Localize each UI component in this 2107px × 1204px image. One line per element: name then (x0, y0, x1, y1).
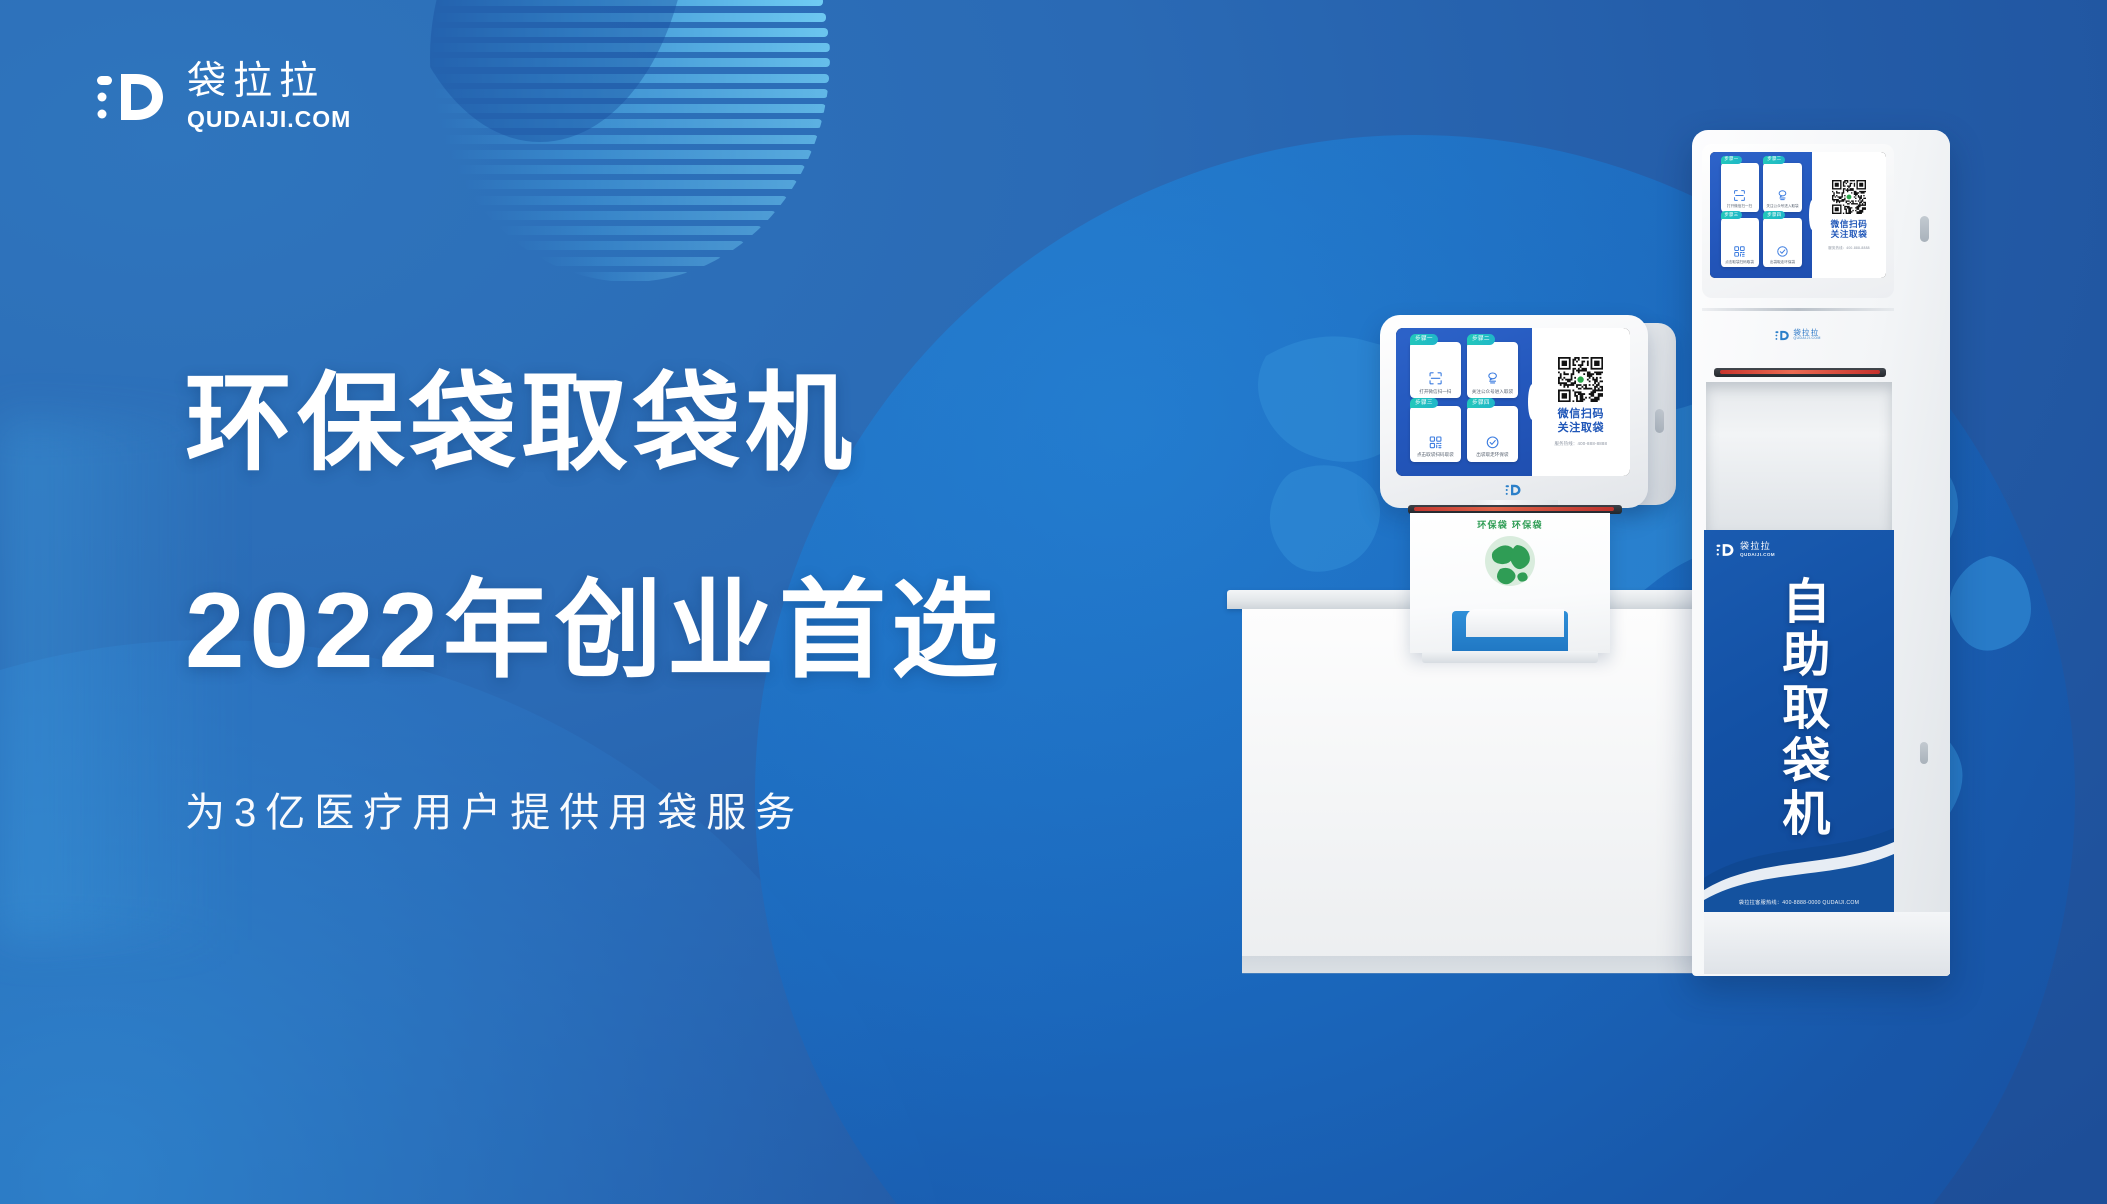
brand-logo-text: 袋拉拉 QUDAIJI.COM (187, 62, 351, 133)
step-card[interactable]: 步骤二 关注公众号进入取袋 (1763, 163, 1801, 212)
floor-kiosk-blue-panel: 袋拉拉 QUDAIJI.COM 自助取袋机 袋拉拉客服热线：400-8888-0… (1704, 530, 1894, 912)
stripe-row (431, 74, 830, 83)
step-card[interactable]: 步骤一 打开微信扫一扫 (1410, 342, 1461, 398)
step-text: 打开微信扫一扫 (1413, 389, 1458, 395)
floor-kiosk-brand-text: 袋拉拉 QUDAIJI.COM (1793, 329, 1820, 340)
qudaiji-logo-icon (95, 66, 169, 128)
counter-base-shadow (1242, 956, 1740, 974)
screen-steps-panel: 步骤一 打开微信扫一扫步骤二 关注公众号进入取袋步骤三 点击取袋扫码取袋步骤四 (1396, 328, 1532, 476)
desktop-kiosk-slot-led (1414, 507, 1614, 511)
qr-title-line-2: 关注取袋 (1831, 229, 1868, 240)
brand-logo[interactable]: 袋拉拉 QUDAIJI.COM (95, 62, 351, 133)
stripe-row (515, 241, 744, 250)
panel-brand-en: QUDAIJI.COM (1740, 553, 1775, 558)
wechat-follow-icon (1484, 371, 1501, 386)
floor-kiosk-side-button-bottom[interactable] (1920, 742, 1928, 764)
stripe-row (455, 165, 806, 174)
promo-banner: 袋拉拉 QUDAIJI.COM 环保袋取袋机 2022年创业首选 为3亿医疗用户… (0, 0, 2107, 1204)
stripe-row (430, 43, 829, 52)
floor-kiosk-slot-led (1720, 370, 1880, 374)
screen-qr-panel: 微信扫码 关注取袋 服务热线：400-888-8888 (1812, 152, 1886, 278)
desktop-kiosk-base (1422, 651, 1598, 663)
stripe-row (442, 135, 817, 144)
desktop-kiosk-basket-lip (1466, 609, 1564, 637)
step-badge: 步骤三 (1410, 398, 1438, 408)
panel-brand-text: 袋拉拉 QUDAIJI.COM (1740, 542, 1775, 557)
step-text: 点击取袋扫码取袋 (1413, 452, 1458, 458)
qudaiji-logo-icon (1716, 542, 1735, 558)
floor-kiosk-pickup-recess (1706, 382, 1892, 532)
floor-kiosk-side-button-top[interactable] (1920, 216, 1929, 242)
floor-kiosk-brand-en: QUDAIJI.COM (1793, 337, 1820, 341)
stripe-row (484, 211, 776, 220)
stripe-row (434, 13, 826, 22)
stripe-row (430, 58, 830, 67)
floor-kiosk-brand-strip: 袋拉拉 QUDAIJI.COM (1702, 318, 1894, 352)
wechat-qr-code-icon[interactable] (1832, 180, 1866, 214)
striped-globe-decoration (430, 0, 830, 282)
step-card[interactable]: 步骤一 打开微信扫一扫 (1721, 163, 1759, 212)
screen-ui: 步骤一 打开微信扫一扫步骤二 关注公众号进入取袋步骤三 点击取袋扫码取袋步骤四 (1396, 328, 1630, 476)
step-badge: 步骤二 (1763, 156, 1785, 164)
stripe-row (463, 180, 797, 189)
counter-body (1242, 609, 1740, 973)
step-text: 出袋取走环保袋 (1766, 260, 1800, 264)
wechat-follow-icon (1776, 189, 1789, 202)
desktop-kiosk: 步骤一 打开微信扫一扫步骤二 关注公众号进入取袋步骤三 点击取袋扫码取袋步骤四 (1380, 315, 1720, 615)
floor-kiosk-screen[interactable]: 步骤一 打开微信扫一扫步骤二 关注公众号进入取袋步骤三 点击取袋扫码取袋步骤四 (1710, 152, 1886, 278)
qudaiji-logo-icon (1505, 483, 1522, 497)
qr-title-line-2: 关注取袋 (1558, 422, 1604, 436)
desktop-kiosk-brand-strip (1396, 478, 1630, 502)
stripe-row (434, 104, 825, 113)
step-badge: 步骤一 (1721, 156, 1743, 164)
qr-title-line-1: 微信扫码 (1831, 219, 1868, 230)
step-text: 出袋取走环保袋 (1470, 452, 1515, 458)
step-card[interactable]: 步骤三 点击取袋扫码取袋 (1721, 218, 1759, 267)
step-badge: 步骤二 (1467, 334, 1495, 344)
step-badge: 步骤一 (1410, 334, 1438, 344)
hero-subtitle: 为3亿医疗用户提供用袋服务 (185, 780, 1003, 838)
step-text: 打开微信扫一扫 (1723, 204, 1756, 208)
eco-caption: 环保袋 环保袋 (1410, 518, 1610, 531)
step-card[interactable]: 步骤三 点击取袋扫码取袋 (1410, 406, 1461, 462)
floor-kiosk-foot (1704, 912, 1950, 974)
step-badge: 步骤四 (1467, 398, 1495, 408)
panel-brand-cn: 袋拉拉 (1740, 542, 1775, 551)
headline-line-2: 2022年创业首选 (185, 577, 1003, 684)
step-text: 关注公众号进入取袋 (1766, 204, 1800, 208)
qr-hotline: 服务热线：400-888-8888 (1555, 441, 1608, 447)
floor-kiosk-brandmark: 袋拉拉 QUDAIJI.COM (1775, 329, 1820, 342)
hero-copy: 环保袋取袋机 2022年创业首选 为3亿医疗用户提供用袋服务 (185, 370, 1003, 838)
screen-steps-panel: 步骤一 打开微信扫一扫步骤二 关注公众号进入取袋步骤三 点击取袋扫码取袋步骤四 (1710, 152, 1812, 278)
stripe-row (571, 272, 689, 281)
screen-qr-panel: 微信扫码 关注取袋 服务热线：400-888-8888 (1532, 328, 1630, 476)
check-circle-icon (1776, 245, 1789, 258)
product-scene: 步骤一 打开微信扫一扫步骤二 关注公众号进入取袋步骤三 点击取袋扫码取袋步骤四 (1180, 130, 2107, 1130)
stripe-row (538, 257, 722, 266)
floor-kiosk-divider (1702, 308, 1894, 311)
stripe-row (432, 28, 829, 37)
step-text: 点击取袋扫码取袋 (1723, 260, 1756, 264)
stripe-row (448, 150, 812, 159)
desktop-kiosk-screen[interactable]: 步骤一 打开微信扫一扫步骤二 关注公众号进入取袋步骤三 点击取袋扫码取袋步骤四 (1396, 328, 1630, 476)
step-card[interactable]: 步骤二 关注公众号进入取袋 (1467, 342, 1518, 398)
step-card[interactable]: 步骤四 出袋取走环保袋 (1467, 406, 1518, 462)
screen-ui: 步骤一 打开微信扫一扫步骤二 关注公众号进入取袋步骤三 点击取袋扫码取袋步骤四 (1710, 152, 1886, 278)
qr-title-line-1: 微信扫码 (1558, 408, 1604, 422)
step-badge: 步骤四 (1763, 211, 1785, 219)
step-badge: 步骤三 (1721, 211, 1743, 219)
brand-name-cn: 袋拉拉 (187, 62, 351, 103)
scan-frame-icon (1427, 371, 1444, 386)
earth-globe-icon (1484, 535, 1536, 587)
brand-name-en: QUDAIJI.COM (187, 106, 351, 133)
stripe-row (437, 0, 823, 6)
step-card[interactable]: 步骤四 出袋取走环保袋 (1763, 218, 1801, 267)
desktop-kiosk-brandmark (1505, 483, 1522, 497)
qr-hotline: 服务热线：400-888-8888 (1828, 245, 1869, 250)
qr-code-icon (1427, 435, 1444, 450)
qr-code-icon (1733, 245, 1746, 258)
scan-frame-icon (1733, 189, 1746, 202)
wechat-qr-code-icon[interactable] (1558, 357, 1603, 402)
stripe-row (432, 89, 828, 98)
panel-brandmark: 袋拉拉 QUDAIJI.COM (1716, 542, 1775, 558)
stripe-row (498, 226, 762, 235)
panel-footer-text: 袋拉拉客服热线：400-8888-0000 QUDAIJI.COM (1704, 899, 1894, 906)
check-circle-icon (1484, 435, 1501, 450)
stripe-row (473, 196, 788, 205)
stripe-row (438, 119, 822, 128)
step-text: 关注公众号进入取袋 (1470, 389, 1515, 395)
panel-vertical-title: 自助取袋机 (1765, 576, 1835, 841)
desktop-kiosk-side-button[interactable] (1655, 409, 1664, 433)
qudaiji-logo-icon (1775, 329, 1790, 342)
headline-line-1: 环保袋取袋机 (185, 370, 1003, 477)
floor-kiosk: 步骤一 打开微信扫一扫步骤二 关注公众号进入取袋步骤三 点击取袋扫码取袋步骤四 (1680, 130, 2010, 1000)
